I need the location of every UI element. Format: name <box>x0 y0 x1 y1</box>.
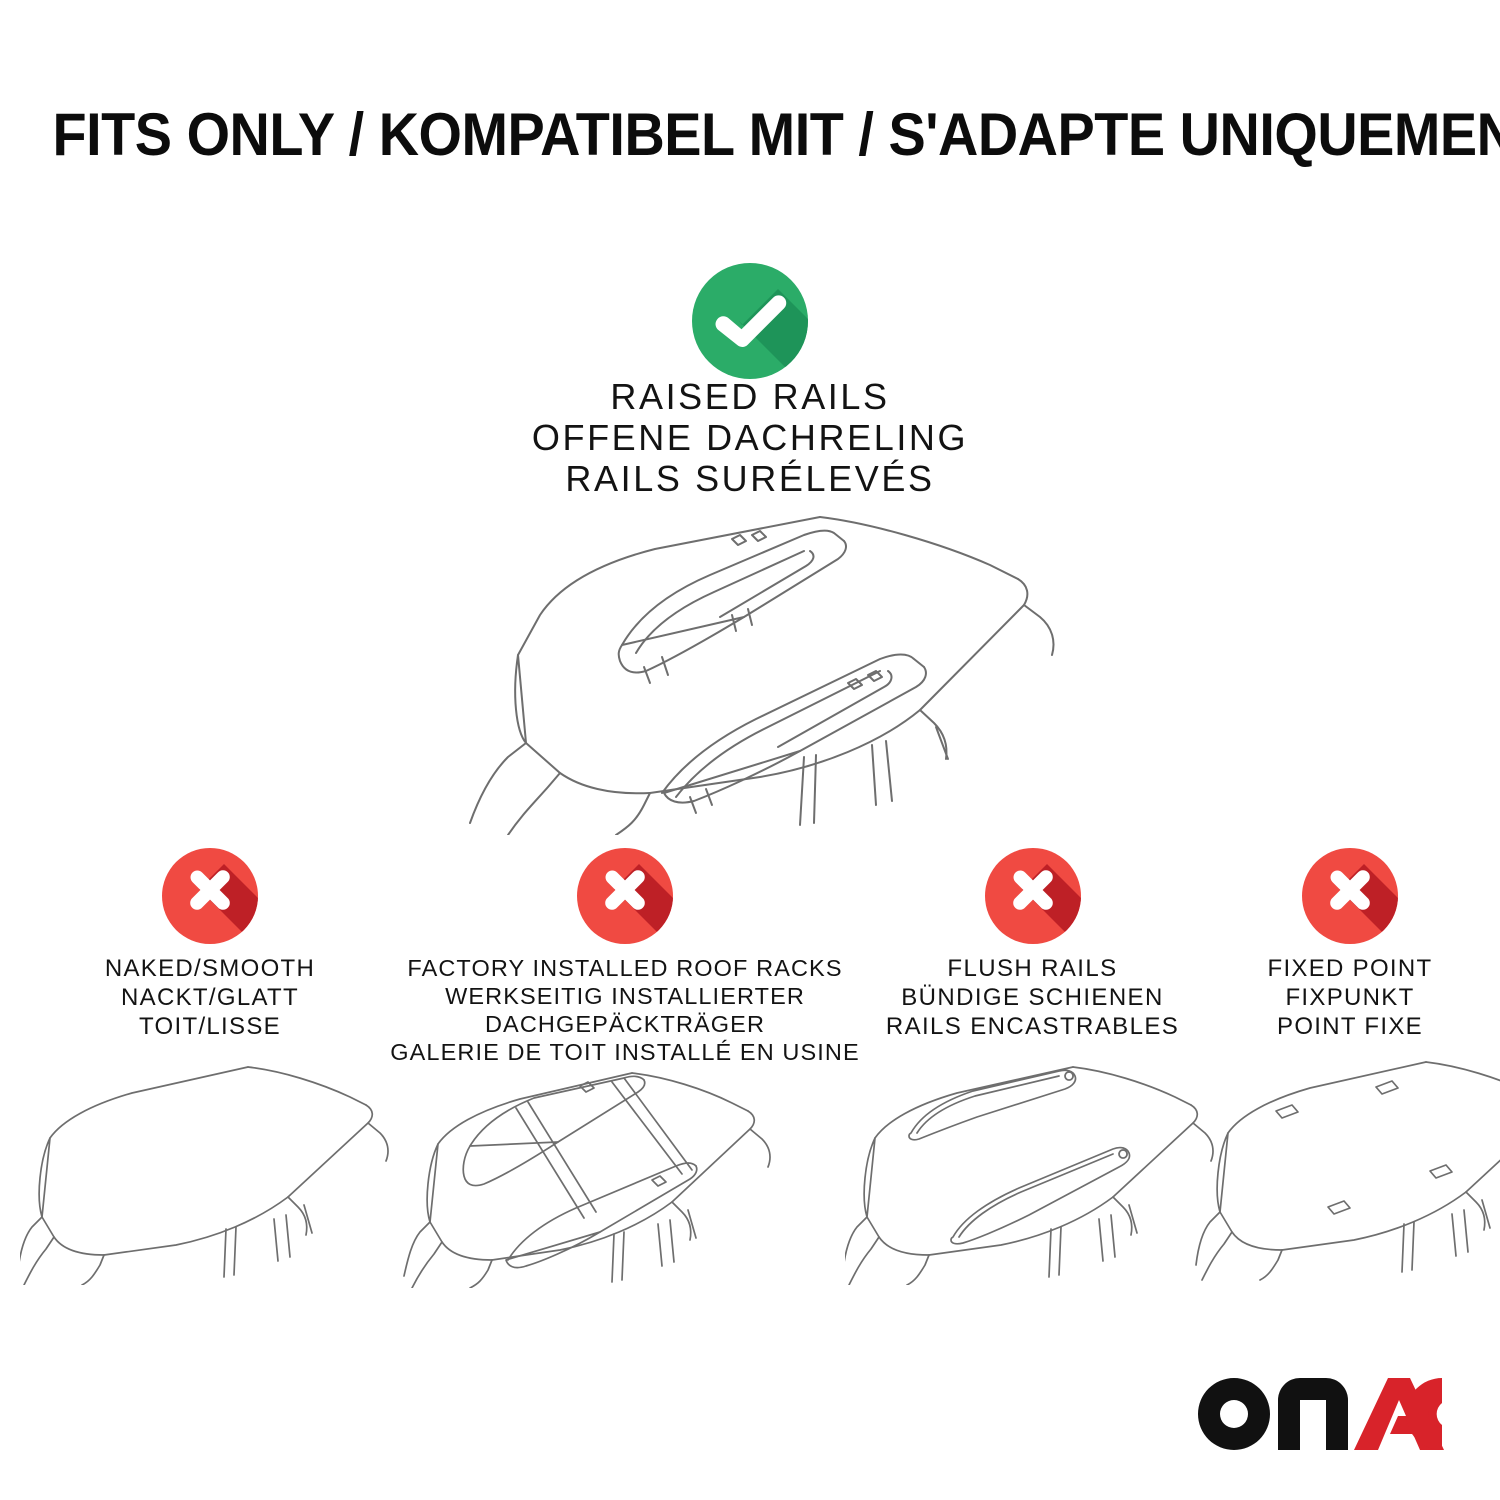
incompatible-column-flush-rails: FLUSH RAILS BÜNDIGE SCHIENEN RAILS ENCAS… <box>855 848 1210 1041</box>
label-line-fr: TOIT/LISSE <box>105 1012 315 1041</box>
car-roof-fixed-point-illustration <box>1180 1055 1500 1285</box>
page-title: FITS ONLY / KOMPATIBEL MIT / S'ADAPTE UN… <box>53 103 1448 167</box>
label-line-en: FACTORY INSTALLED ROOF RACKS <box>390 954 859 982</box>
label-line-fr: RAILS ENCASTRABLES <box>886 1012 1179 1041</box>
x-circle-icon <box>1302 848 1398 944</box>
compatible-label-de: OFFENE DACHRELING <box>250 417 1250 458</box>
x-circle-icon-wrapper <box>985 848 1081 952</box>
incompatible-column-fixed-point: FIXED POINT FIXPUNKT POINT FIXE <box>1215 848 1485 1041</box>
incompatible-column-naked-smooth: NAKED/SMOOTH NACKT/GLATT TOIT/LISSE <box>20 848 400 1041</box>
label-line-de-1: WERKSEITIG INSTALLIERTER <box>390 982 859 1010</box>
label-line-de: NACKT/GLATT <box>105 983 315 1012</box>
incompatible-labels-naked-smooth: NAKED/SMOOTH NACKT/GLATT TOIT/LISSE <box>105 954 315 1041</box>
label-line-fr: POINT FIXE <box>1268 1012 1433 1041</box>
incompatible-column-factory-roof-racks: FACTORY INSTALLED ROOF RACKS WERKSEITIG … <box>400 848 850 1066</box>
incompatible-labels-flush-rails: FLUSH RAILS BÜNDIGE SCHIENEN RAILS ENCAS… <box>886 954 1179 1041</box>
x-circle-icon <box>577 848 673 944</box>
check-circle-icon <box>692 263 808 379</box>
x-circle-icon <box>162 848 258 944</box>
label-line-en: FIXED POINT <box>1268 954 1433 983</box>
car-roof-raised-rails-illustration <box>400 505 1100 835</box>
car-roof-naked-smooth-illustration <box>20 1055 400 1285</box>
omac-logo <box>1198 1378 1448 1450</box>
omac-logo-mark <box>1198 1378 1448 1450</box>
car-roof-factory-roof-racks-illustration <box>400 1048 780 1278</box>
x-circle-icon-wrapper <box>577 848 673 952</box>
compatible-label-en: RAISED RAILS <box>250 376 1250 417</box>
label-line-de-2: DACHGEPÄCKTRÄGER <box>390 1010 859 1038</box>
x-circle-icon <box>985 848 1081 944</box>
fitment-info-graphic: FITS ONLY / KOMPATIBEL MIT / S'ADAPTE UN… <box>0 0 1500 1500</box>
label-line-de: BÜNDIGE SCHIENEN <box>886 983 1179 1012</box>
label-line-en: NAKED/SMOOTH <box>105 954 315 983</box>
label-line-en: FLUSH RAILS <box>886 954 1179 983</box>
compatible-label-fr: RAILS SURÉLEVÉS <box>250 458 1250 499</box>
car-roof-flush-rails-illustration <box>845 1055 1225 1285</box>
x-circle-icon-wrapper <box>1302 848 1398 952</box>
label-line-de: FIXPUNKT <box>1268 983 1433 1012</box>
incompatible-labels-fixed-point: FIXED POINT FIXPUNKT POINT FIXE <box>1268 954 1433 1041</box>
compatible-labels: RAISED RAILS OFFENE DACHRELING RAILS SUR… <box>250 376 1250 499</box>
x-circle-icon-wrapper <box>162 848 258 952</box>
